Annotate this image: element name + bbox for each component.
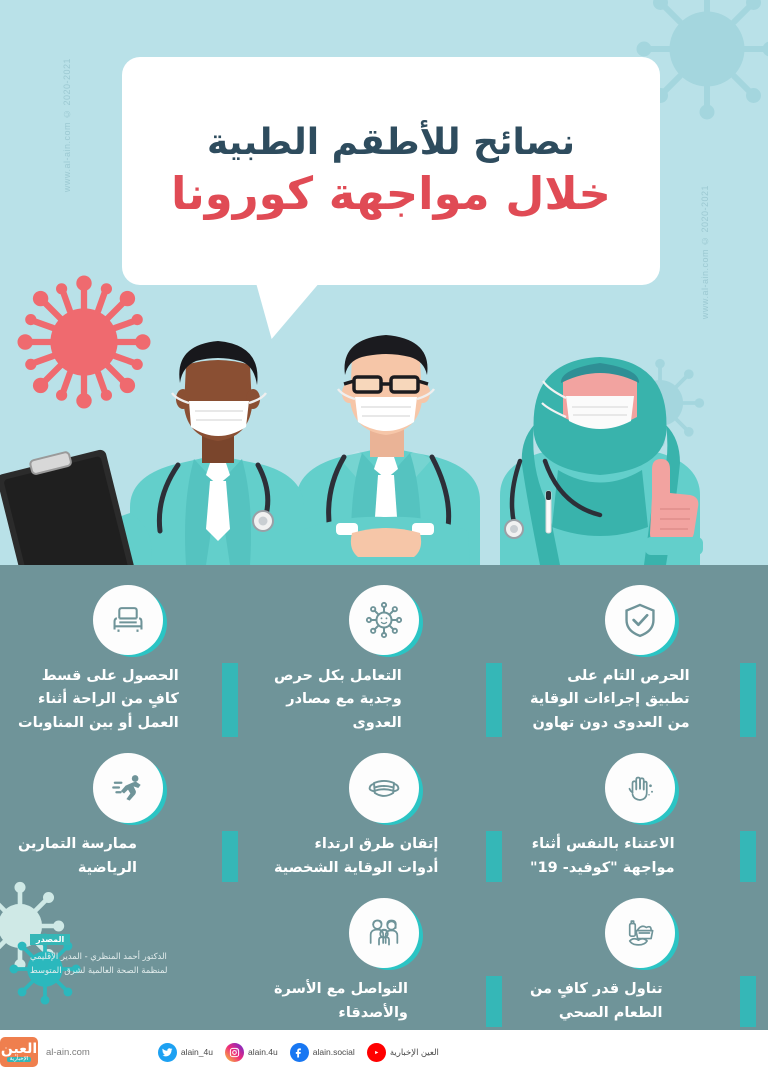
youtube-icon[interactable]	[367, 1043, 386, 1062]
tip-icon-wrap	[349, 585, 419, 655]
tip-accent-bar	[222, 831, 238, 882]
doctor-clipboard-figure	[0, 341, 304, 565]
icon-disc	[349, 585, 419, 655]
social-handle: العين الإخبارية	[390, 1047, 439, 1058]
healthy-food-icon	[621, 914, 659, 952]
tip-text-wrap: التواصل مع الأسرة والأصدقاء	[270, 978, 498, 1025]
facebook-icon[interactable]	[290, 1043, 309, 1062]
tip-text: ممارسة التمارين الرياضية	[14, 833, 137, 880]
tip-text-wrap: إتقان طرق ارتداء أدوات الوقاية الشخصية	[270, 833, 498, 880]
tip-text-wrap: التعامل بكل حرص وجدية مع مصادر العدوى	[270, 665, 498, 735]
al-ain-logo[interactable]: العين الإخبارية	[0, 1037, 38, 1067]
tip-card[interactable]: تناول قدر كافٍ من الطعام الصحي	[512, 890, 768, 1029]
tip-text: التعامل بكل حرص وجدية مع مصادر العدوى	[270, 665, 402, 735]
tips-panel: الحرص التام على تطبيق إجراءات الوقاية من…	[0, 565, 768, 1030]
tip-icon-wrap	[93, 585, 163, 655]
social-link-twitter[interactable]: alain_4u	[158, 1043, 213, 1062]
source-label: المصدر	[30, 934, 70, 945]
brand-primary-text: العين	[1, 1042, 37, 1056]
tip-icon-wrap	[349, 753, 419, 823]
title-speech-bubble: نصائح للأطقم الطبية خلال مواجهة كورونا	[122, 57, 660, 285]
tip-accent-bar	[740, 976, 756, 1027]
tip-accent-bar	[486, 831, 502, 882]
brand-secondary-text: الإخبارية	[7, 1057, 32, 1063]
tip-card[interactable]: التواصل مع الأسرة والأصدقاء	[256, 890, 512, 1029]
virus-icon	[364, 600, 404, 640]
page-title-secondary: خلال مواجهة كورونا	[171, 167, 611, 220]
icon-disc	[93, 753, 163, 823]
tip-icon-wrap	[605, 753, 675, 823]
tip-card[interactable]: إتقان طرق ارتداء أدوات الوقاية الشخصية	[256, 745, 512, 884]
social-link-instagram[interactable]: alain.4u	[225, 1043, 278, 1062]
tip-accent-bar	[740, 663, 756, 737]
doctor-glasses-figure	[296, 335, 480, 565]
face-mask-icon	[364, 768, 404, 808]
social-handle: alain.4u	[248, 1047, 278, 1057]
footer-brand: al-ain.com العين الإخبارية	[0, 1037, 116, 1067]
tip-text: تناول قدر كافٍ من الطعام الصحي	[526, 978, 663, 1025]
footer-bar: alain_4u alain.4u alai	[0, 1030, 768, 1074]
icon-disc	[349, 753, 419, 823]
social-handle: alain_4u	[181, 1047, 213, 1057]
icon-disc	[93, 585, 163, 655]
tip-text-wrap: الحرص التام على تطبيق إجراءات الوقاية من…	[526, 665, 754, 735]
tip-text-wrap: تناول قدر كافٍ من الطعام الصحي	[526, 978, 754, 1025]
social-handle: alain.social	[313, 1047, 355, 1057]
tip-text-wrap: الاعتناء بالنفس أثناء مواجهة "كوفيد- 19"	[526, 833, 754, 880]
hand-wash-icon	[622, 770, 658, 806]
tip-accent-bar	[222, 663, 238, 737]
tip-accent-bar	[486, 663, 502, 737]
social-links: alain_4u alain.4u alai	[116, 1043, 439, 1062]
tip-text-wrap: ممارسة التمارين الرياضية	[14, 833, 242, 880]
source-text: الدكتور أحمد المنظري - المدير الإقليمي ل…	[30, 949, 256, 978]
instagram-icon[interactable]	[225, 1043, 244, 1062]
tip-text: الحصول على قسط كافٍ من الراحة أثناء العم…	[14, 665, 179, 735]
tip-text-wrap: الحصول على قسط كافٍ من الراحة أثناء العم…	[14, 665, 242, 735]
twitter-icon[interactable]	[158, 1043, 177, 1062]
shield-check-icon	[621, 601, 659, 639]
tip-text: التواصل مع الأسرة والأصدقاء	[270, 978, 408, 1025]
page-title-primary: نصائح للأطقم الطبية	[207, 122, 575, 163]
social-link-youtube[interactable]: العين الإخبارية	[367, 1043, 439, 1062]
armchair-icon	[109, 601, 147, 639]
watermark-left: www.al-ain.com © 2020-2021	[62, 58, 72, 192]
tip-text: الحرص التام على تطبيق إجراءات الوقاية من…	[526, 665, 690, 735]
tip-icon-wrap	[605, 898, 675, 968]
speech-bubble-tail	[246, 277, 325, 339]
tip-accent-bar	[740, 831, 756, 882]
icon-disc	[605, 753, 675, 823]
tip-text: إتقان طرق ارتداء أدوات الوقاية الشخصية	[270, 833, 438, 880]
family-icon	[364, 913, 404, 953]
tip-text: الاعتناء بالنفس أثناء مواجهة "كوفيد- 19"	[526, 833, 675, 880]
tip-card[interactable]: التعامل بكل حرص وجدية مع مصادر العدوى	[256, 577, 512, 739]
medical-team-illustration	[0, 265, 768, 565]
icon-disc	[349, 898, 419, 968]
icon-disc	[605, 898, 675, 968]
tip-card[interactable]: الاعتناء بالنفس أثناء مواجهة "كوفيد- 19"	[512, 745, 768, 884]
illustration-panel: www.al-ain.com © 2020-2021 www.al-ain.co…	[0, 0, 768, 565]
source-block: المصدر الدكتور أحمد المنظري - المدير الإ…	[30, 927, 256, 978]
icon-disc	[605, 585, 675, 655]
tip-icon-wrap	[349, 898, 419, 968]
tip-card[interactable]: الحصول على قسط كافٍ من الراحة أثناء العم…	[0, 577, 256, 739]
social-link-facebook[interactable]: alain.social	[290, 1043, 355, 1062]
tip-icon-wrap	[605, 585, 675, 655]
nurse-figure	[500, 357, 703, 565]
tip-card[interactable]: ممارسة التمارين الرياضية	[0, 745, 256, 884]
tip-accent-bar	[486, 976, 502, 1027]
tip-card[interactable]: الحرص التام على تطبيق إجراءات الوقاية من…	[512, 577, 768, 739]
tip-icon-wrap	[93, 753, 163, 823]
running-person-icon	[109, 769, 147, 807]
infographic-poster: www.al-ain.com © 2020-2021 www.al-ain.co…	[0, 0, 768, 1074]
site-url[interactable]: al-ain.com	[46, 1047, 90, 1058]
